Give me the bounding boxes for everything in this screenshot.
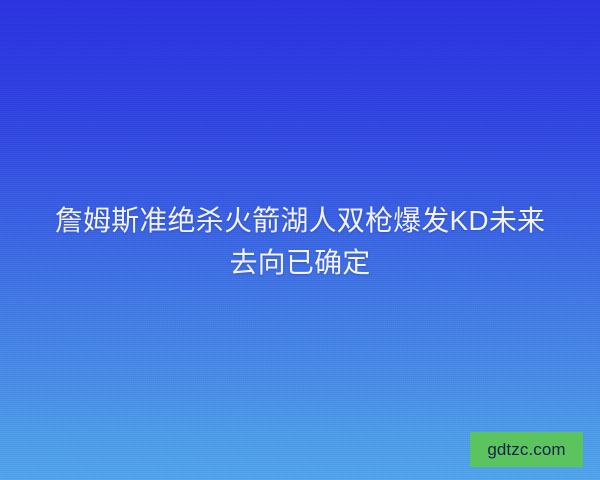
headline-text: 詹姆斯准绝杀火箭湖人双枪爆发KD未来 去向已确定 <box>0 200 600 284</box>
watermark-badge: gdtzc.com <box>470 432 583 467</box>
banner-image: 詹姆斯准绝杀火箭湖人双枪爆发KD未来 去向已确定 gdtzc.com <box>0 0 600 480</box>
watermark-label: gdtzc.com <box>487 441 565 458</box>
